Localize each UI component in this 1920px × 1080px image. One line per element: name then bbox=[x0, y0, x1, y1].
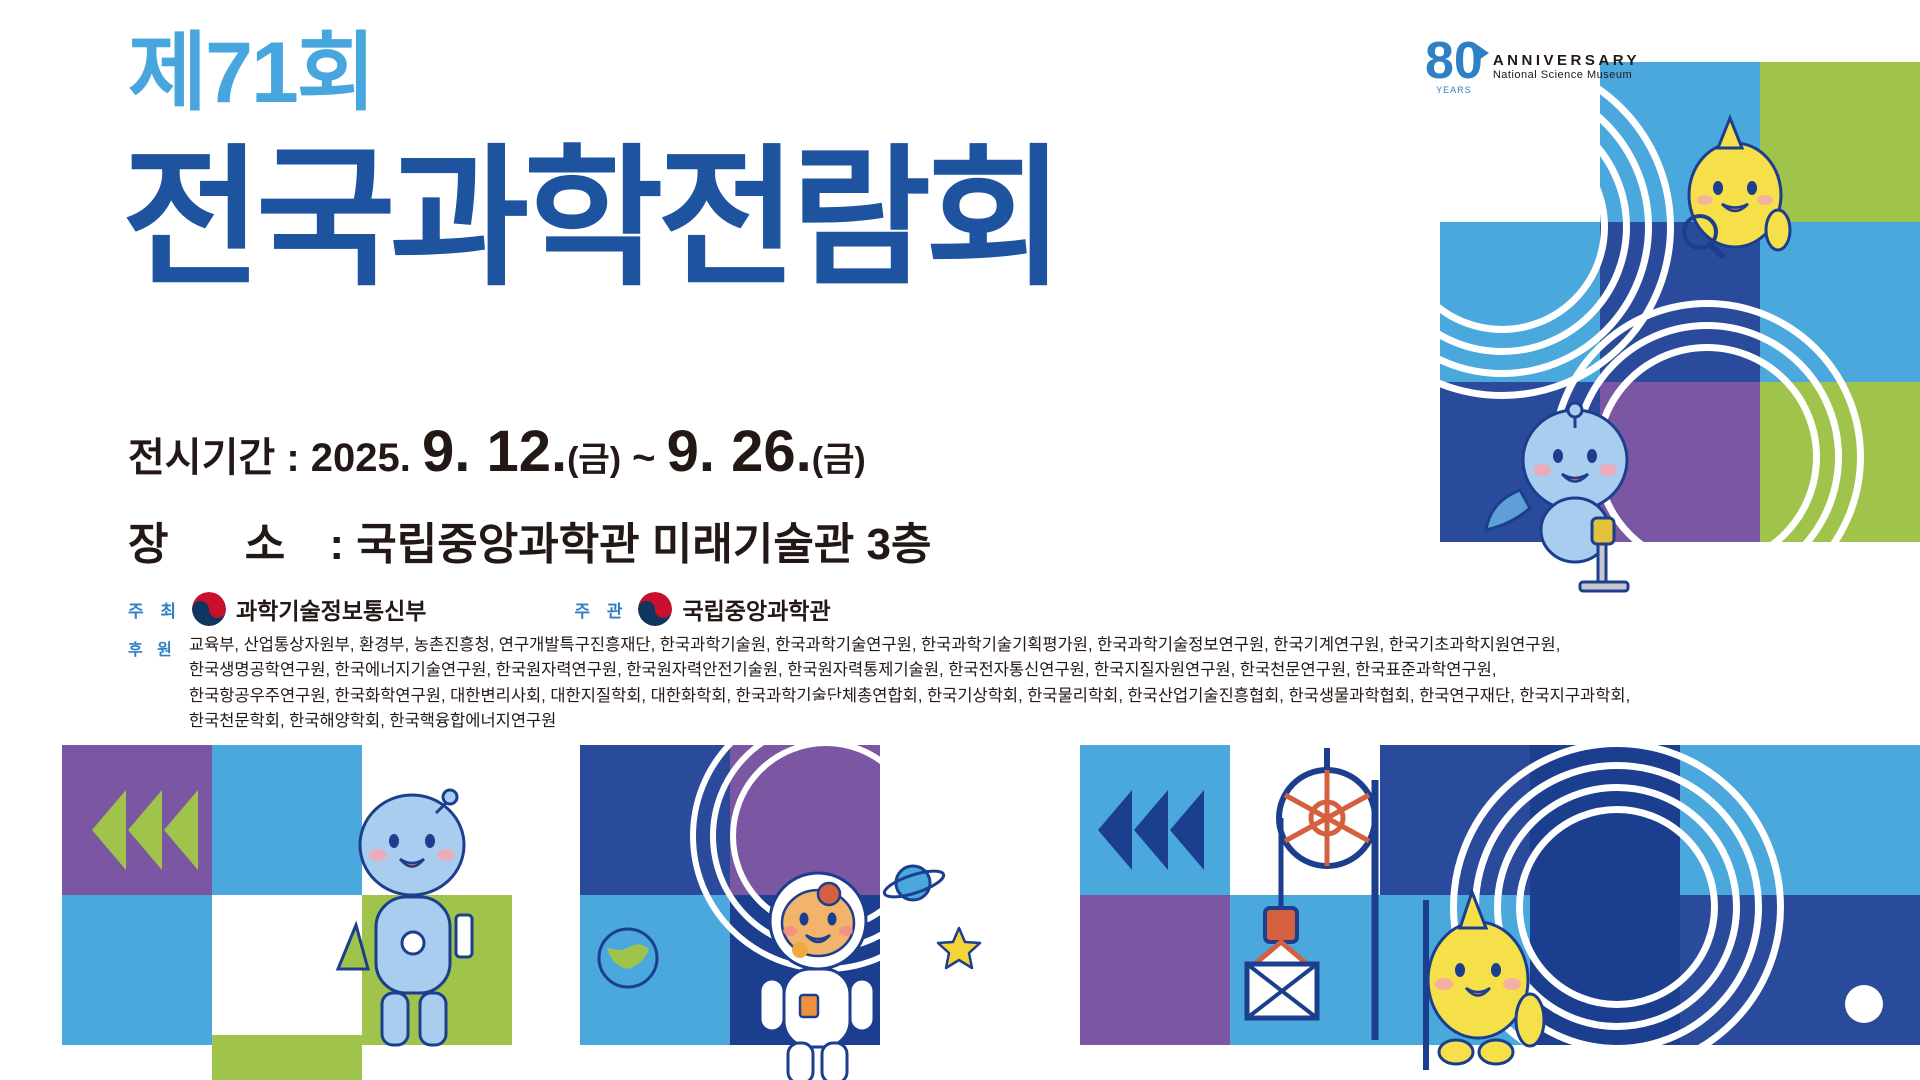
character-yellow-dino-bottom bbox=[1390, 870, 1570, 1080]
chevron-icon bbox=[92, 790, 126, 870]
period-start-day: 12. bbox=[486, 419, 567, 484]
period-label: 전시기간 : bbox=[128, 436, 311, 480]
exhibition-venue: 장 소 : 국립중앙과학관 미래기술관 3층 bbox=[128, 508, 931, 572]
chevron-icon bbox=[1134, 790, 1168, 870]
host-name: 과학기술정보통신부 bbox=[236, 592, 426, 626]
anniversary-number: 80 bbox=[1425, 38, 1483, 85]
period-tilde: ~ bbox=[621, 436, 667, 480]
venue-label: 장 소 bbox=[128, 520, 317, 569]
planet-small-red-icon bbox=[815, 880, 843, 908]
host-slot-0: 주 최 과학기술정보통신부 bbox=[128, 592, 426, 626]
tile-b-sky-1 bbox=[62, 895, 212, 1045]
sponsor-line: 교육부, 산업통상자원부, 환경부, 농촌진흥청, 연구개발특구진흥재단, 한국… bbox=[189, 634, 1630, 657]
page-kicker: 제71회 bbox=[128, 30, 374, 116]
period-end-dow: (금) bbox=[812, 441, 866, 479]
character-blue-chemist-bottom bbox=[320, 775, 510, 1055]
chevron-arrows-middle bbox=[1098, 790, 1204, 870]
venue-colon: : bbox=[317, 520, 356, 569]
character-yellow-dino-top bbox=[1660, 100, 1810, 260]
host-slot-1: 주 관 국립중앙과학관 bbox=[574, 592, 830, 626]
sponsor-line: 한국생명공학연구원, 한국에너지기술연구원, 한국원자력연구원, 한국원자력안전… bbox=[189, 659, 1630, 682]
chevron-icon bbox=[1170, 790, 1204, 870]
period-start-dow: (금) bbox=[567, 441, 621, 479]
host-role-label: 주 최 bbox=[128, 597, 182, 622]
chevron-icon bbox=[164, 790, 198, 870]
taegeuk-emblem-icon bbox=[638, 592, 672, 626]
period-year: 2025. bbox=[311, 436, 422, 480]
host-organizations: 주 최 과학기술정보통신부 주 관 국립중앙과학관 bbox=[128, 592, 831, 626]
host-name: 국립중앙과학관 bbox=[682, 592, 830, 626]
tile-b-sky-8 bbox=[1830, 745, 1920, 895]
period-end-day: 26. bbox=[731, 419, 812, 484]
sponsor-list: 교육부, 산업통상자원부, 환경부, 농촌진흥청, 연구개발특구진흥재단, 한국… bbox=[189, 634, 1630, 734]
period-start-month: 9. bbox=[422, 419, 487, 484]
dot-orange-icon bbox=[790, 940, 810, 960]
page-title: 전국과학전람회 bbox=[122, 140, 1059, 300]
star-icon bbox=[935, 925, 983, 973]
planet-earth-icon bbox=[595, 925, 661, 991]
sponsor-line: 한국항공우주연구원, 한국화학연구원, 대한변리사회, 대한지질학회, 대한화학… bbox=[189, 685, 1630, 708]
character-blue-scientist-right bbox=[1480, 390, 1680, 600]
chevron-icon bbox=[1098, 790, 1132, 870]
poster-root: 제71회 전국과학전람회 전시기간 : 2025. 9. 12.(금) ~ 9.… bbox=[0, 0, 1920, 1080]
chevron-icon bbox=[128, 790, 162, 870]
anniversary-text: ANNIVERSARY National Science Museum bbox=[1493, 52, 1640, 81]
planet-saturn-icon bbox=[880, 855, 950, 911]
dot-white-circle bbox=[1845, 985, 1883, 1023]
anniversary-subtitle: National Science Museum bbox=[1493, 69, 1640, 81]
period-end-month: 9. bbox=[667, 419, 732, 484]
anniversary-title: ANNIVERSARY bbox=[1493, 52, 1640, 69]
ring-arc-4 bbox=[1396, 121, 1608, 333]
sponsor-label: 후 원 bbox=[128, 634, 177, 660]
venue-value: 국립중앙과학관 미래기술관 3층 bbox=[356, 520, 931, 569]
host-role-label: 주 관 bbox=[574, 597, 628, 622]
play-triangle-icon bbox=[1476, 44, 1489, 62]
exhibition-period: 전시기간 : 2025. 9. 12.(금) ~ 9. 26.(금) bbox=[128, 418, 866, 485]
tile-b-purple-3 bbox=[1080, 895, 1230, 1045]
taegeuk-emblem-icon bbox=[192, 592, 226, 626]
chevron-arrows-left bbox=[92, 790, 198, 870]
anniversary-logo: 80 YEARS ANNIVERSARY National Science Mu… bbox=[1425, 38, 1640, 95]
